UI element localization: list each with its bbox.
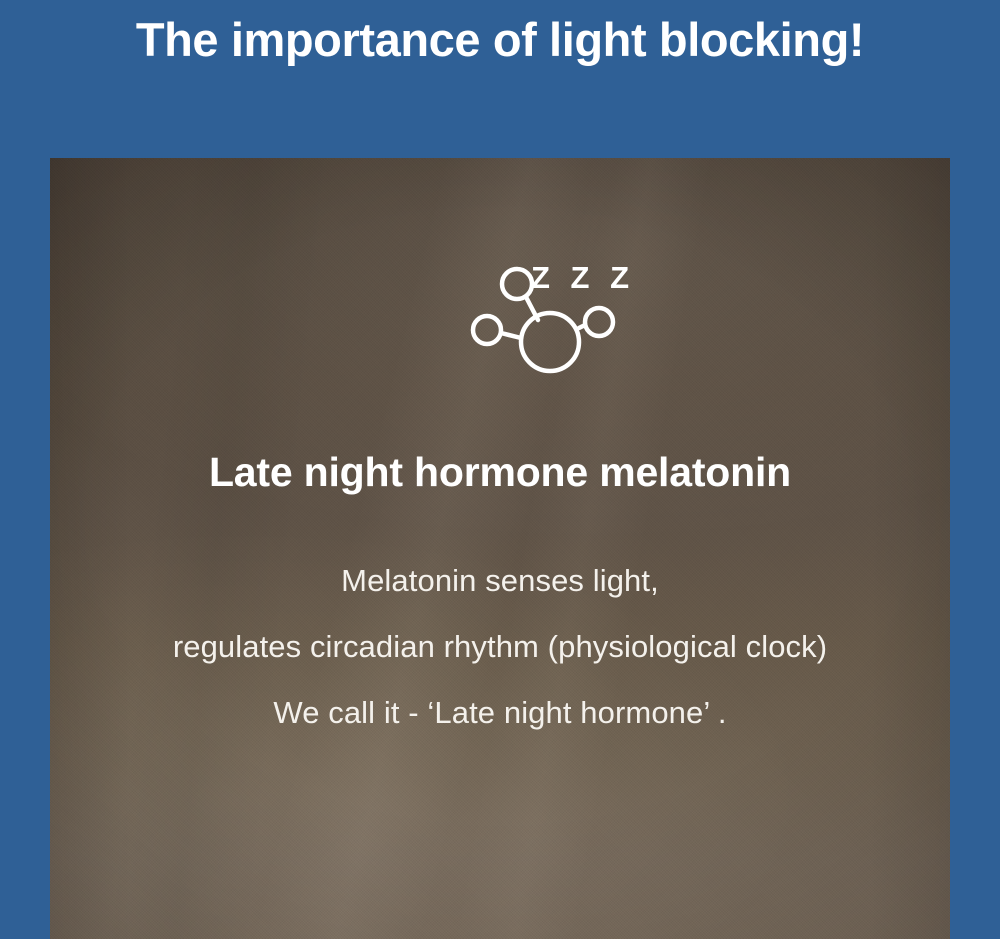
panel-content: Z Z Z Late night hormone melatonin Melat… [50, 158, 950, 939]
body-line-2: regulates circadian rhythm (physiologica… [50, 614, 950, 680]
body-line-3: We call it - ‘Late night hormone’ . [50, 680, 950, 746]
melatonin-photo-panel: Z Z Z Late night hormone melatonin Melat… [50, 158, 950, 939]
left-atom-circle [473, 316, 501, 344]
melatonin-molecule-sleep-icon: Z Z Z [405, 250, 635, 380]
central-atom-circle [521, 313, 579, 371]
panel-heading: Late night hormone melatonin [50, 446, 950, 498]
sleep-zzz-text: Z Z Z [531, 260, 635, 295]
page-title: The importance of light blocking! [0, 9, 1000, 71]
title-banner: The importance of light blocking! [0, 0, 1000, 158]
bond-left [501, 333, 521, 338]
body-line-1: Melatonin senses light, [50, 548, 950, 614]
promo-slide: The importance of light blocking! Z Z Z [0, 0, 1000, 939]
panel-body: Melatonin senses light, regulates circad… [50, 548, 950, 746]
right-atom-circle [585, 308, 613, 336]
top-left-atom-circle [502, 269, 532, 299]
